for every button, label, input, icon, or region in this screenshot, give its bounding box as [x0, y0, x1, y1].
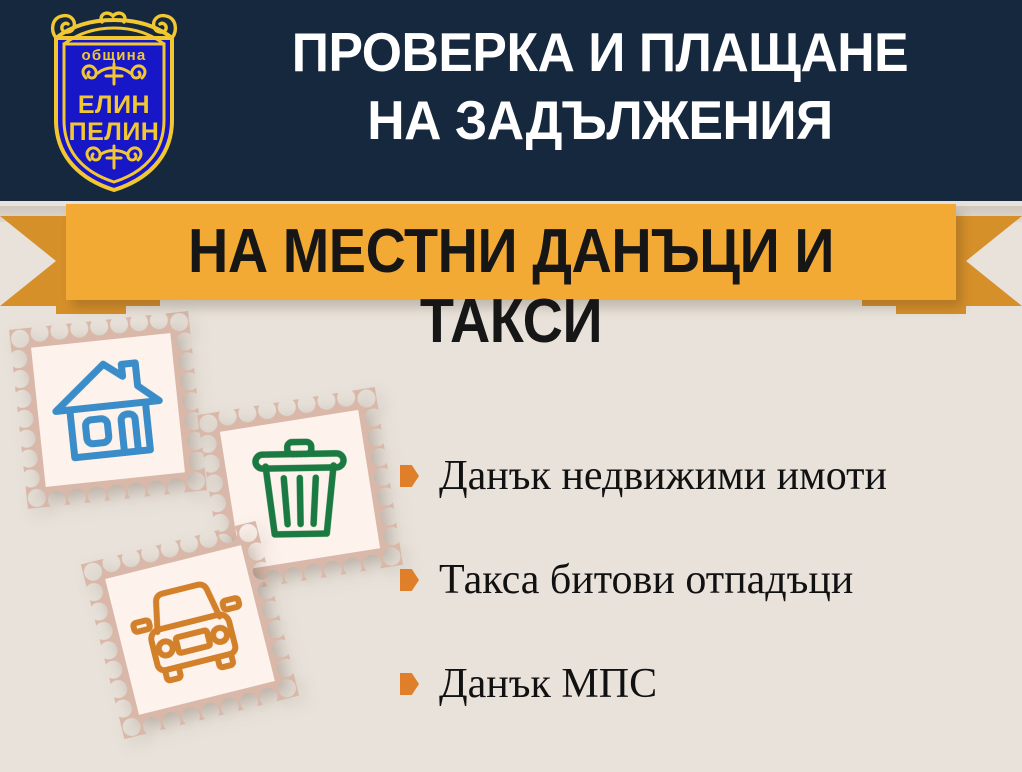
house-icon [42, 344, 174, 476]
list-item-label: Данък МПС [439, 661, 657, 707]
page-title: ПРОВЕРКА И ПЛАЩАНЕ НА ЗАДЪЛЖЕНИЯ [215, 18, 986, 154]
ribbon-main-panel: НА МЕСТНИ ДАНЪЦИ И ТАКСИ [66, 204, 956, 300]
ribbon-label: НА МЕСТНИ ДАНЪЦИ И ТАКСИ [111, 217, 912, 357]
poster-canvas: ПРОВЕРКА И ПЛАЩАНЕ НА ЗАДЪЛЖЕНИЯ община [0, 0, 1022, 772]
list-item: Данък недвижими имоти [400, 424, 1010, 528]
list-item: Данък МПС [400, 632, 1010, 736]
emblem-name-line2: ПЕЛИН [69, 118, 160, 146]
bullet-arrow-icon [400, 673, 419, 695]
municipality-emblem: община ЕЛИН ПЕЛИН [40, 8, 188, 196]
list-item: Такса битови отпадъци [400, 528, 1010, 632]
coat-of-arms-icon: община ЕЛИН ПЕЛИН [40, 8, 188, 196]
ribbon-banner: НА МЕСТНИ ДАНЪЦИ И ТАКСИ [0, 196, 1022, 306]
bullet-arrow-icon [400, 465, 419, 487]
emblem-name-line1: ЕЛИН [78, 91, 150, 119]
list-item-label: Такса битови отпадъци [439, 557, 853, 603]
tax-types-list: Данък недвижими имоти Такса битови отпад… [400, 424, 1010, 736]
list-item-label: Данък недвижими имоти [439, 453, 887, 499]
emblem-top-text: община [82, 47, 147, 64]
bullet-arrow-icon [400, 569, 419, 591]
